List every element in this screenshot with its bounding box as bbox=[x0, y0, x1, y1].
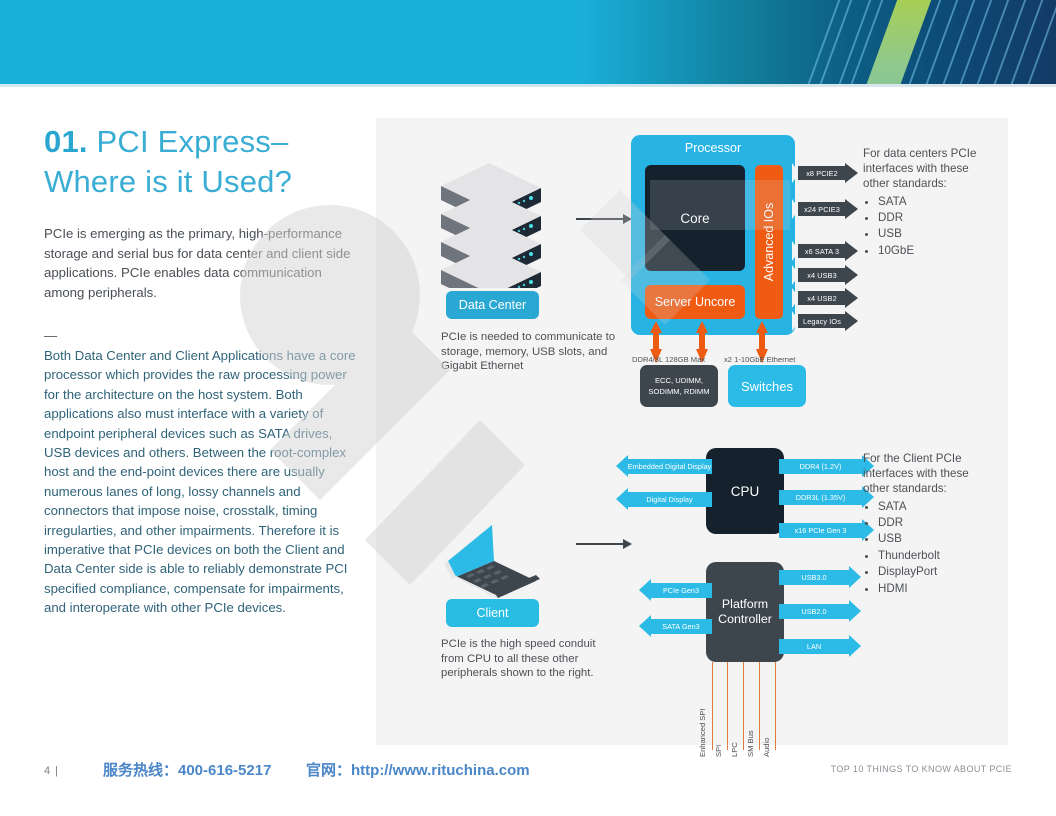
body-paragraph: Both Data Center and Client Applications… bbox=[44, 346, 359, 618]
io-arrow-x4-usb3: x4 USB3 bbox=[792, 268, 858, 282]
datacenter-standards-block: For data centers PCIe interfaces with th… bbox=[863, 146, 993, 259]
data-center-caption: PCIe is needed to communicate to storage… bbox=[441, 330, 621, 374]
client-standards-block: For the Client PCIe interfaces with thes… bbox=[863, 451, 993, 597]
header-underline bbox=[0, 84, 1056, 87]
arrow-pcie-gen3: PCIe Gen3 bbox=[639, 583, 712, 598]
banner-stripe-icon bbox=[922, 0, 990, 84]
io-arrow-x6-sata3: x6 SATA 3 bbox=[792, 244, 858, 258]
bus-line-enhanced-spi bbox=[712, 662, 713, 750]
bus-label-sm-bus: SM Bus bbox=[746, 730, 755, 757]
io-arrow-x24-pcie3: x24 PCIE3 bbox=[792, 202, 858, 216]
laptop-icon bbox=[436, 503, 551, 598]
io-arrow-x8-pcie2: x8 PCIE2 bbox=[792, 166, 858, 180]
io-arrow-x4-usb2: x4 USB2 bbox=[792, 291, 858, 305]
page-number: 4 | bbox=[44, 765, 59, 777]
processor-block: Processor Core Server Uncore Advanced IO… bbox=[631, 135, 795, 335]
arrow-embedded-digital-display: Embedded Digital Display bbox=[616, 459, 712, 474]
intro-paragraph: PCIe is emerging as the primary, high-pe… bbox=[44, 224, 359, 302]
footer-right-text: TOP 10 THINGS TO KNOW ABOUT PCIE bbox=[831, 764, 1012, 774]
cpu-block: CPU bbox=[706, 448, 784, 534]
bus-line-sm-bus bbox=[759, 662, 760, 750]
ethernet-link-label: x2 1-10GbE Ethernet bbox=[724, 355, 795, 364]
page-title-number: 01. bbox=[44, 124, 88, 159]
arrow-digital-display: Digital Display bbox=[616, 492, 712, 507]
server-stack-icon bbox=[431, 158, 551, 288]
client-caption: PCIe is the high speed conduit from CPU … bbox=[441, 637, 601, 681]
advanced-ios-block: Advanced IOs bbox=[755, 165, 783, 319]
footer: 4 | 服务热线：400-616-5217 官网：http://www.ritu… bbox=[0, 755, 1056, 800]
list-item: SATA bbox=[878, 194, 993, 210]
client-pill[interactable]: Client bbox=[446, 599, 539, 627]
page-title: 01. PCI Express– Where is it Used? bbox=[44, 122, 359, 202]
list-item: 10GbE bbox=[878, 243, 993, 259]
arrow-x16-pcie-gen3: x16 PCIe Gen 3 bbox=[779, 523, 875, 538]
memory-link-label: DDR4/3L 128GB Max bbox=[632, 355, 705, 364]
divider-dash: — bbox=[44, 326, 359, 345]
server-uncore-block: Server Uncore bbox=[645, 285, 745, 319]
processor-label: Processor bbox=[631, 141, 795, 155]
datacenter-standards-list: SATA DDR USB 10GbE bbox=[863, 194, 993, 260]
arrow-usb20: USB2.0 bbox=[779, 604, 875, 619]
client-standards-list: SATA DDR USB Thunderbolt DisplayPort HDM… bbox=[863, 499, 993, 597]
bus-line-lpc bbox=[743, 662, 744, 750]
list-item: DDR bbox=[878, 210, 993, 226]
arrow-usb30: USB3.0 bbox=[779, 570, 875, 585]
list-item: DisplayPort bbox=[878, 564, 993, 580]
diagram-panel: Data Center PCIe is needed to communicat… bbox=[376, 118, 1008, 745]
list-item: DDR bbox=[878, 515, 993, 531]
list-item: HDMI bbox=[878, 581, 993, 597]
banner-stripe-icon bbox=[939, 0, 1007, 84]
banner-stripe-icon bbox=[956, 0, 1024, 84]
left-column: 01. PCI Express– Where is it Used? PCIe … bbox=[44, 122, 359, 618]
header-banner bbox=[0, 0, 1056, 84]
switches-box: Switches bbox=[728, 365, 806, 407]
banner-stripe-icon bbox=[973, 0, 1041, 84]
client-standards-heading: For the Client PCIe interfaces with thes… bbox=[863, 451, 993, 497]
list-item: SATA bbox=[878, 499, 993, 515]
memory-box: ECC, UDIMM, SODIMM, RDIMM bbox=[640, 365, 718, 407]
datacenter-flow-arrow-icon bbox=[576, 218, 624, 220]
core-block: Core bbox=[645, 165, 745, 271]
footer-website[interactable]: 官网：http://www.rituchina.com bbox=[306, 759, 530, 780]
arrow-sata-gen3: SATA Gen3 bbox=[639, 619, 712, 634]
arrow-ddr4: DDR4 (1.2V) bbox=[779, 459, 875, 474]
advanced-ios-label: Advanced IOs bbox=[762, 203, 776, 282]
platform-controller-block: Platform Controller bbox=[706, 562, 784, 662]
list-item: USB bbox=[878, 531, 993, 547]
footer-hotline: 服务热线：400-616-5217 bbox=[103, 759, 271, 780]
io-arrow-legacy-ios: Legacy IOs bbox=[792, 314, 858, 328]
bus-line-spi bbox=[727, 662, 728, 750]
arrow-lan: LAN bbox=[779, 639, 875, 654]
bus-line-audio bbox=[775, 662, 776, 750]
datacenter-standards-heading: For data centers PCIe interfaces with th… bbox=[863, 146, 993, 192]
bus-label-enhanced-spi: Enhanced SPI bbox=[698, 708, 707, 757]
list-item: Thunderbolt bbox=[878, 548, 993, 564]
data-center-pill[interactable]: Data Center bbox=[446, 291, 539, 319]
client-flow-arrow-icon bbox=[576, 543, 624, 545]
list-item: USB bbox=[878, 226, 993, 242]
arrow-ddr3l: DDR3L (1.35V) bbox=[779, 490, 875, 505]
